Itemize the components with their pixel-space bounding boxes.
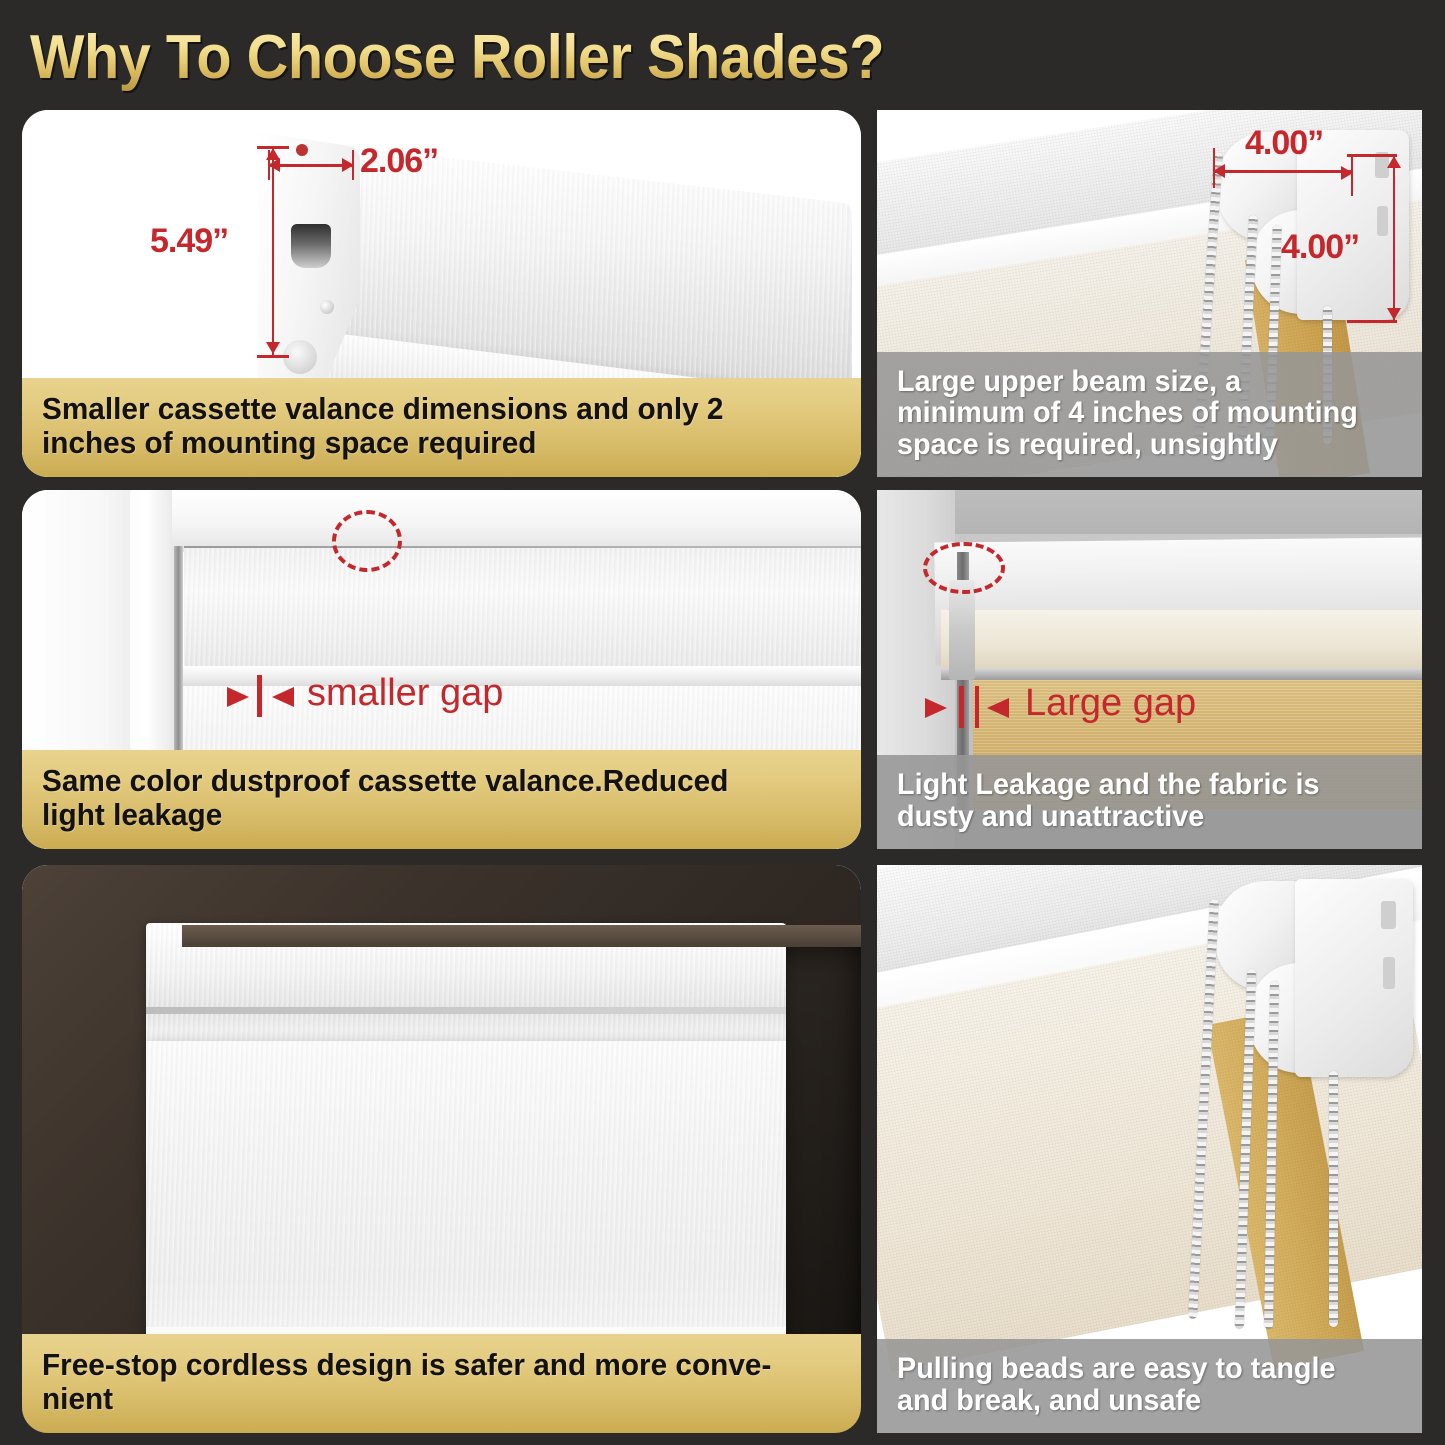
caption-line: space is required, unsightly — [897, 429, 1384, 461]
comparison-grid: 2.06” 5.49” Smaller cassette valance dim… — [0, 104, 1445, 1445]
caption-line: inches of mounting space required — [42, 426, 811, 461]
panel-light-leakage[interactable]: Large gap Light Leakage and the fabric i… — [877, 490, 1422, 849]
page-title: Why To Choose Roller Shades? — [30, 22, 884, 93]
panel-2-caption: Large upper beam size, a minimum of 4 in… — [877, 352, 1422, 477]
caption-line: Smaller cassette valance dimensions and … — [42, 392, 811, 427]
caption-line: Large upper beam size, a — [897, 366, 1384, 398]
panel-6-caption: Pulling beads are easy to tangle and bre… — [877, 1339, 1422, 1433]
height-dimension-label: 5.49” — [150, 222, 228, 261]
caption-line: minimum of 4 inches of mounting — [897, 397, 1384, 429]
panel-1-caption: Smaller cassette valance dimensions and … — [22, 378, 861, 477]
gap-callout-label: Large gap — [1025, 682, 1196, 725]
gap-callout-label: smaller gap — [307, 672, 503, 715]
panel-5-caption: Free-stop cordless design is safer and m… — [22, 1334, 861, 1433]
roller-shade-fabric — [146, 1041, 786, 1357]
caption-line: light leakage — [42, 798, 811, 833]
bead-chain — [1329, 1071, 1338, 1327]
panel-cordless-design[interactable]: Free-stop cordless design is safer and m… — [22, 865, 861, 1433]
width-dimension-label: 4.00” — [1245, 124, 1323, 163]
caption-line: and break, and unsafe — [897, 1385, 1384, 1417]
panel-4-caption: Light Leakage and the fabric is dusty an… — [877, 755, 1422, 849]
caption-line: dusty and unattractive — [897, 801, 1384, 833]
caption-line: Free-stop cordless design is safer and m… — [42, 1348, 811, 1383]
caption-line: Light Leakage and the fabric is — [897, 769, 1384, 801]
height-dimension-label: 4.00” — [1281, 228, 1359, 267]
caption-line: Same color dustproof cassette valance.Re… — [42, 764, 811, 799]
panel-pulling-beads[interactable]: Pulling beads are easy to tangle and bre… — [877, 865, 1422, 1433]
panel-large-beam[interactable]: 4.00” 4.00” Large upper beam size, a min… — [877, 110, 1422, 477]
gap-highlight-ellipse — [332, 510, 402, 572]
panel-smaller-cassette[interactable]: 2.06” 5.49” Smaller cassette valance dim… — [22, 110, 861, 477]
header-bar: Why To Choose Roller Shades? — [0, 0, 1445, 104]
caption-line: Pulling beads are easy to tangle — [897, 1353, 1384, 1385]
gap-highlight-ellipse — [923, 542, 1005, 594]
panel-dustproof-valance[interactable]: smaller gap Same color dustproof cassett… — [22, 490, 861, 849]
width-dimension-label: 2.06” — [360, 142, 438, 181]
caption-line: nient — [42, 1382, 811, 1417]
panel-3-caption: Same color dustproof cassette valance.Re… — [22, 750, 861, 849]
